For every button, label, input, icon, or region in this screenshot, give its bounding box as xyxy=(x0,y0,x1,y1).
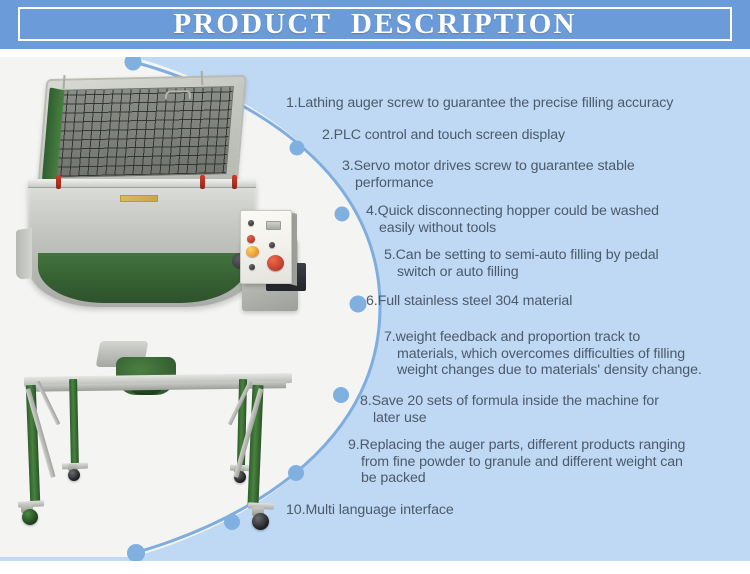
feature-text: Quick disconnecting hopper could be wash… xyxy=(378,203,659,219)
feature-number: 6. xyxy=(366,293,378,309)
feature-number: 8. xyxy=(360,393,372,409)
feature-item-1: 1.Lathing auger screw to guarantee the p… xyxy=(286,95,742,112)
feature-item-3: 3.Servo motor drives screw to guarantee … xyxy=(342,158,742,191)
feature-number: 5. xyxy=(384,247,396,263)
feature-text-line2: from fine powder to granule and differen… xyxy=(348,454,748,471)
description-body-panel: 1.Lathing auger screw to guarantee the p… xyxy=(0,57,750,561)
feature-text-line3: weight changes due to materials' density… xyxy=(384,362,742,379)
feature-number: 10. xyxy=(286,502,305,518)
feature-item-10: 10.Multi language interface xyxy=(286,502,706,519)
feature-text: Save 20 sets of formula inside the machi… xyxy=(372,393,659,409)
feature-text: Full stainless steel 304 material xyxy=(378,293,573,309)
feature-text: PLC control and touch screen display xyxy=(334,127,565,143)
feature-list: 1.Lathing auger screw to guarantee the p… xyxy=(0,57,750,561)
feature-item-6: 6.Full stainless steel 304 material xyxy=(366,293,746,310)
feature-number: 2. xyxy=(322,127,334,143)
feature-number: 7. xyxy=(384,329,396,345)
product-description-page: PRODUCT DESCRIPTION xyxy=(0,0,750,574)
feature-text-line3: be packed xyxy=(348,470,748,487)
feature-number: 1. xyxy=(286,95,298,111)
feature-item-4: 4.Quick disconnecting hopper could be wa… xyxy=(366,203,746,236)
feature-number: 9. xyxy=(348,437,360,453)
page-title: PRODUCT DESCRIPTION xyxy=(0,0,750,49)
feature-text: Replacing the auger parts, different pro… xyxy=(360,437,686,453)
feature-item-5: 5.Can be setting to semi-auto filling by… xyxy=(384,247,744,280)
feature-text-line2: later use xyxy=(360,410,742,427)
feature-text-line2: easily without tools xyxy=(366,220,746,237)
feature-item-2: 2.PLC control and touch screen display xyxy=(322,127,742,144)
feature-item-9: 9.Replacing the auger parts, different p… xyxy=(348,437,748,487)
feature-text-line2: switch or auto filling xyxy=(384,264,744,281)
feature-number: 3. xyxy=(342,158,354,174)
feature-text-line2: materials, which overcomes difficulties … xyxy=(384,346,742,363)
feature-text-line2: performance xyxy=(342,175,742,192)
feature-text: Servo motor drives screw to guarantee st… xyxy=(354,158,635,174)
feature-text: weight feedback and proportion track to xyxy=(396,329,641,345)
feature-item-8: 8.Save 20 sets of formula inside the mac… xyxy=(360,393,742,426)
feature-number: 4. xyxy=(366,203,378,219)
feature-text: Lathing auger screw to guarantee the pre… xyxy=(298,95,674,111)
feature-text: Multi language interface xyxy=(305,502,453,518)
feature-item-7: 7.weight feedback and proportion track t… xyxy=(384,329,742,379)
header-banner: PRODUCT DESCRIPTION xyxy=(0,0,750,49)
feature-text: Can be setting to semi-auto filling by p… xyxy=(396,247,659,263)
